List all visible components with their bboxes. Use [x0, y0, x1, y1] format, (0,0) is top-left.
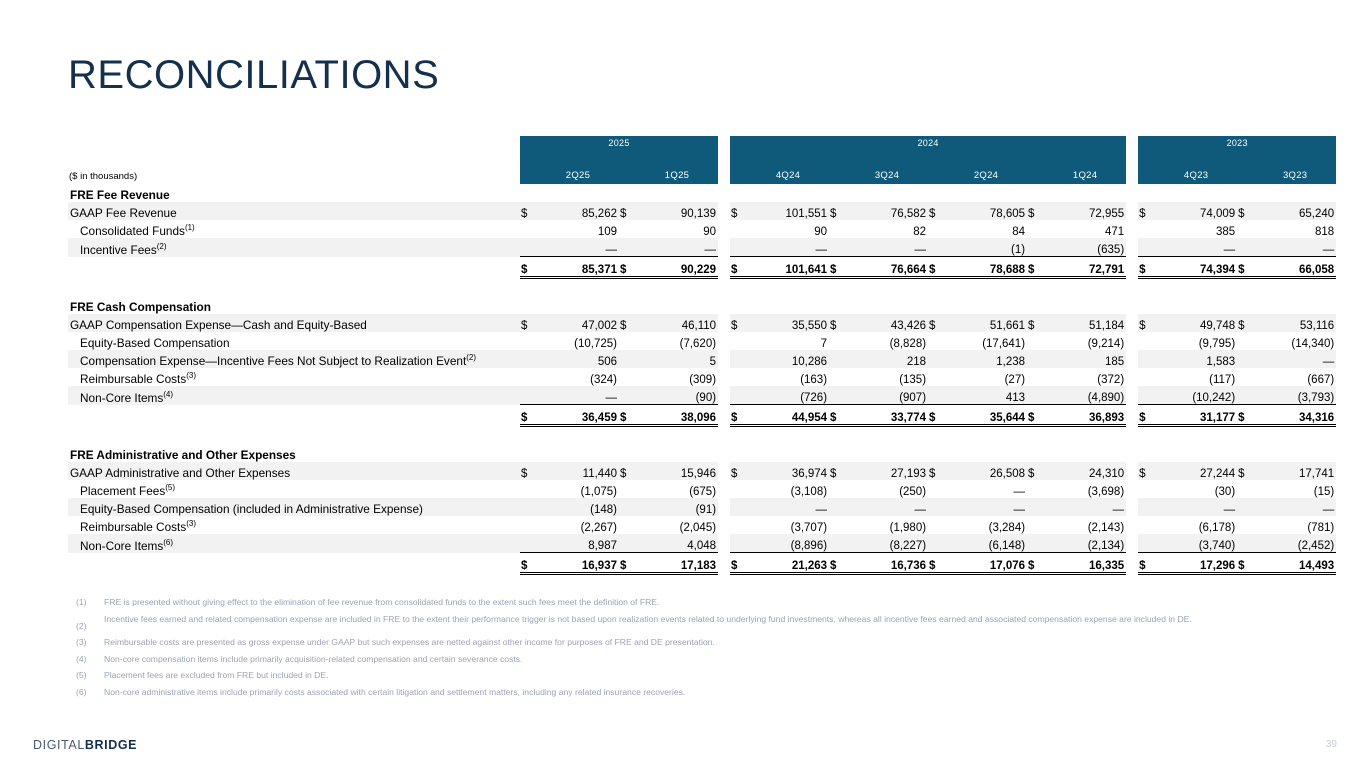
- section-total-row: $16,937$17,183$21,263$16,736$17,076$16,3…: [68, 553, 1336, 574]
- row-label: GAAP Fee Revenue: [68, 202, 520, 220]
- cell-value-3Q23: 14,493: [1254, 553, 1336, 574]
- row-label: Placement Fees(5): [68, 480, 520, 498]
- cell-value-3Q24: (135): [846, 368, 928, 386]
- year-group-gap: [1126, 136, 1138, 151]
- year-group-gap: [718, 498, 730, 516]
- currency-symbol: [928, 368, 945, 386]
- cell-value-4Q23: (117): [1155, 368, 1237, 386]
- footnote-number: (2): [70, 614, 104, 632]
- cell-value-3Q24: (1,980): [846, 516, 928, 534]
- cell-value-4Q23: (9,795): [1155, 332, 1237, 350]
- cell-value-3Q23: (667): [1254, 368, 1336, 386]
- year-group-gap: [718, 480, 730, 498]
- currency-symbol: $: [730, 257, 747, 278]
- quarter-currency-pad: [1138, 151, 1155, 184]
- currency-symbol: [829, 498, 846, 516]
- table-row: Non-Core Items(4)—(90)(726)(907)413(4,89…: [68, 386, 1336, 405]
- currency-symbol: $: [1138, 314, 1155, 332]
- currency-symbol: [1138, 480, 1155, 498]
- year-header-row: 202520242023: [68, 136, 1336, 151]
- currency-symbol: [520, 238, 537, 257]
- currency-symbol: [1027, 516, 1044, 534]
- year-label-2023: 2023: [1138, 136, 1336, 151]
- quarter-currency-pad: [829, 151, 846, 184]
- year-group-gap: [1126, 238, 1138, 257]
- currency-symbol: $: [928, 462, 945, 480]
- currency-symbol: [1237, 368, 1254, 386]
- currency-symbol: [730, 332, 747, 350]
- cell-value-2Q24: 84: [945, 220, 1027, 238]
- cell-value-4Q23: 49,748: [1155, 314, 1237, 332]
- currency-symbol: $: [928, 202, 945, 220]
- quarter-currency-pad: [1237, 151, 1254, 184]
- cell-value-3Q23: (781): [1254, 516, 1336, 534]
- section-heading-row: FRE Fee Revenue: [68, 184, 1336, 202]
- total-label: [68, 405, 520, 426]
- footnote-number: (6): [70, 687, 104, 698]
- cell-value-1Q25: 46,110: [636, 314, 718, 332]
- currency-symbol: $: [1138, 405, 1155, 426]
- currency-symbol: $: [730, 462, 747, 480]
- year-group-gap: [1126, 480, 1138, 498]
- currency-symbol: [1237, 386, 1254, 405]
- currency-symbol: $: [829, 553, 846, 574]
- header-label-spacer: [68, 136, 520, 151]
- cell-value-1Q25: 90,229: [636, 257, 718, 278]
- currency-symbol: [1138, 332, 1155, 350]
- cell-value-2Q25: 11,440: [537, 462, 619, 480]
- row-label: Non-Core Items(6): [68, 534, 520, 553]
- cell-value-1Q25: 15,946: [636, 462, 718, 480]
- currency-symbol: $: [520, 257, 537, 278]
- currency-symbol: [829, 220, 846, 238]
- currency-symbol: $: [829, 202, 846, 220]
- year-group-gap: [1126, 405, 1138, 426]
- table-row: GAAP Fee Revenue$85,262$90,139$101,551$7…: [68, 202, 1336, 220]
- year-group-gap: [718, 257, 730, 278]
- currency-symbol: [730, 516, 747, 534]
- footnote-text: Reimbursable costs are presented as gros…: [104, 637, 1320, 648]
- currency-symbol: [520, 350, 537, 368]
- logo-light-text: DIGITAL: [33, 738, 85, 752]
- row-label: Reimbursable Costs(3): [68, 368, 520, 386]
- footnote-text: FRE is presented without giving effect t…: [104, 597, 1320, 608]
- cell-value-4Q23: 385: [1155, 220, 1237, 238]
- currency-symbol: [928, 386, 945, 405]
- footnote-text: Placement fees are excluded from FRE but…: [104, 670, 1320, 681]
- cell-value-2Q24: 78,605: [945, 202, 1027, 220]
- year-group-gap: [1126, 553, 1138, 574]
- currency-symbol: [1138, 498, 1155, 516]
- currency-symbol: [1138, 368, 1155, 386]
- currency-symbol: [619, 516, 636, 534]
- cell-value-4Q24: —: [747, 238, 829, 257]
- currency-symbol: $: [520, 462, 537, 480]
- cell-value-4Q24: 7: [747, 332, 829, 350]
- cell-value-2Q25: (1,075): [537, 480, 619, 498]
- currency-symbol: [1027, 534, 1044, 553]
- currency-symbol: $: [520, 405, 537, 426]
- year-group-gap: [718, 462, 730, 480]
- cell-value-1Q24: 16,335: [1044, 553, 1126, 574]
- currency-symbol: [730, 386, 747, 405]
- year-group-gap: [718, 553, 730, 574]
- cell-value-2Q25: 16,937: [537, 553, 619, 574]
- currency-symbol: [1138, 516, 1155, 534]
- currency-symbol: [829, 516, 846, 534]
- currency-symbol: [1237, 238, 1254, 257]
- currency-symbol: [619, 498, 636, 516]
- year-label-2025: 2025: [520, 136, 718, 151]
- cell-value-1Q24: (4,890): [1044, 386, 1126, 405]
- cell-value-4Q23: 1,583: [1155, 350, 1237, 368]
- quarter-label-1Q25: 1Q25: [636, 151, 718, 184]
- currency-symbol: [928, 238, 945, 257]
- currency-symbol: [520, 332, 537, 350]
- cell-value-2Q25: —: [537, 386, 619, 405]
- currency-symbol: $: [829, 405, 846, 426]
- currency-symbol: [619, 386, 636, 405]
- currency-symbol: $: [1138, 202, 1155, 220]
- currency-symbol: [619, 350, 636, 368]
- table-row: Non-Core Items(6)8,9874,048(8,896)(8,227…: [68, 534, 1336, 553]
- currency-symbol: [1237, 350, 1254, 368]
- currency-symbol: [1138, 386, 1155, 405]
- year-group-gap: [1126, 257, 1138, 278]
- cell-value-2Q25: 109: [537, 220, 619, 238]
- cell-value-4Q24: (8,896): [747, 534, 829, 553]
- reconciliation-table-wrapper: 202520242023($ in thousands)2Q251Q254Q24…: [68, 136, 1318, 575]
- cell-value-2Q24: (1): [945, 238, 1027, 257]
- currency-symbol: [1237, 516, 1254, 534]
- currency-symbol: $: [619, 257, 636, 278]
- row-label: Consolidated Funds(1): [68, 220, 520, 238]
- cell-value-1Q25: 38,096: [636, 405, 718, 426]
- cell-value-3Q23: (15): [1254, 480, 1336, 498]
- currency-symbol: [520, 498, 537, 516]
- currency-symbol: [1027, 368, 1044, 386]
- quarter-label-2Q25: 2Q25: [537, 151, 619, 184]
- cell-value-3Q24: 33,774: [846, 405, 928, 426]
- currency-symbol: [829, 534, 846, 553]
- currency-symbol: $: [1138, 257, 1155, 278]
- cell-value-1Q24: —: [1044, 498, 1126, 516]
- currency-symbol: [1027, 480, 1044, 498]
- table-row: Reimbursable Costs(3)(2,267)(2,045)(3,70…: [68, 516, 1336, 534]
- currency-symbol: [1027, 332, 1044, 350]
- currency-symbol: [928, 498, 945, 516]
- cell-value-2Q24: (6,148): [945, 534, 1027, 553]
- cell-value-2Q25: 85,262: [537, 202, 619, 220]
- currency-symbol: [928, 516, 945, 534]
- cell-value-3Q24: —: [846, 498, 928, 516]
- footnote-item: (1)FRE is presented without giving effec…: [70, 597, 1320, 608]
- currency-symbol: $: [1027, 314, 1044, 332]
- currency-symbol: [1138, 534, 1155, 553]
- quarter-label-4Q23: 4Q23: [1155, 151, 1237, 184]
- cell-value-4Q24: 44,954: [747, 405, 829, 426]
- section-heading: FRE Administrative and Other Expenses: [68, 444, 520, 462]
- cell-value-1Q25: 90,139: [636, 202, 718, 220]
- quarter-label-2Q24: 2Q24: [945, 151, 1027, 184]
- currency-symbol: $: [928, 314, 945, 332]
- cell-value-1Q25: (675): [636, 480, 718, 498]
- cell-value-4Q23: 31,177: [1155, 405, 1237, 426]
- cell-value-4Q23: (30): [1155, 480, 1237, 498]
- currency-symbol: $: [928, 405, 945, 426]
- currency-symbol: [928, 480, 945, 498]
- cell-value-1Q24: 185: [1044, 350, 1126, 368]
- currency-symbol: $: [619, 405, 636, 426]
- cell-value-2Q24: (27): [945, 368, 1027, 386]
- cell-value-2Q24: 35,644: [945, 405, 1027, 426]
- currency-symbol: $: [1138, 553, 1155, 574]
- cell-value-1Q24: 36,893: [1044, 405, 1126, 426]
- cell-value-3Q24: (8,227): [846, 534, 928, 553]
- cell-value-3Q23: (2,452): [1254, 534, 1336, 553]
- currency-symbol: [928, 220, 945, 238]
- currency-symbol: $: [1237, 257, 1254, 278]
- logo-bold-text: BRIDGE: [85, 738, 137, 752]
- year-group-gap: [1126, 534, 1138, 553]
- cell-value-4Q24: 101,641: [747, 257, 829, 278]
- footnote-text: Incentive fees earned and related compen…: [104, 614, 1320, 625]
- year-group-gap: [718, 368, 730, 386]
- year-group-gap: [718, 238, 730, 257]
- currency-symbol: $: [520, 202, 537, 220]
- cell-value-2Q25: 36,459: [537, 405, 619, 426]
- row-label: Equity-Based Compensation: [68, 332, 520, 350]
- cell-value-1Q25: (90): [636, 386, 718, 405]
- currency-symbol: [730, 480, 747, 498]
- cell-value-1Q24: (635): [1044, 238, 1126, 257]
- cell-value-2Q24: 51,661: [945, 314, 1027, 332]
- quarter-currency-pad: [1027, 151, 1044, 184]
- year-group-gap: [718, 405, 730, 426]
- currency-symbol: $: [1027, 553, 1044, 574]
- currency-symbol: [520, 368, 537, 386]
- currency-symbol: [1027, 220, 1044, 238]
- table-row: Incentive Fees(2)————(1)(635)——: [68, 238, 1336, 257]
- currency-symbol: $: [730, 553, 747, 574]
- currency-symbol: [928, 350, 945, 368]
- cell-value-3Q23: 17,741: [1254, 462, 1336, 480]
- cell-value-3Q23: (14,340): [1254, 332, 1336, 350]
- cell-value-2Q25: 8,987: [537, 534, 619, 553]
- footnote-number: (3): [70, 637, 104, 648]
- currency-symbol: [1027, 498, 1044, 516]
- cell-value-3Q24: 218: [846, 350, 928, 368]
- currency-symbol: $: [619, 202, 636, 220]
- currency-symbol: [928, 534, 945, 553]
- cell-value-3Q23: —: [1254, 350, 1336, 368]
- cell-value-4Q24: 10,286: [747, 350, 829, 368]
- cell-value-1Q24: (2,134): [1044, 534, 1126, 553]
- year-group-gap: [718, 516, 730, 534]
- year-group-gap: [718, 386, 730, 405]
- currency-symbol: $: [1237, 202, 1254, 220]
- cell-value-1Q25: (309): [636, 368, 718, 386]
- year-group-gap: [1126, 350, 1138, 368]
- currency-symbol: [619, 368, 636, 386]
- quarter-currency-pad: [520, 151, 537, 184]
- currency-symbol: [520, 220, 537, 238]
- row-label: Equity-Based Compensation (included in A…: [68, 498, 520, 516]
- year-group-gap: [1126, 332, 1138, 350]
- currency-symbol: [730, 220, 747, 238]
- currency-symbol: $: [619, 553, 636, 574]
- quarter-currency-pad: [928, 151, 945, 184]
- currency-symbol: $: [928, 553, 945, 574]
- cell-value-3Q24: 82: [846, 220, 928, 238]
- year-group-gap: [718, 534, 730, 553]
- cell-value-4Q24: 36,974: [747, 462, 829, 480]
- footnote-text: Non-core administrative items include pr…: [104, 687, 1320, 698]
- section-total-row: $36,459$38,096$44,954$33,774$35,644$36,8…: [68, 405, 1336, 426]
- cell-value-2Q24: 17,076: [945, 553, 1027, 574]
- cell-value-2Q24: (17,641): [945, 332, 1027, 350]
- total-label: [68, 553, 520, 574]
- quarter-currency-pad: [730, 151, 747, 184]
- cell-value-4Q23: —: [1155, 238, 1237, 257]
- cell-value-4Q23: 27,244: [1155, 462, 1237, 480]
- currency-symbol: [1027, 238, 1044, 257]
- cell-value-3Q24: 16,736: [846, 553, 928, 574]
- cell-value-4Q24: 35,550: [747, 314, 829, 332]
- currency-symbol: [520, 386, 537, 405]
- currency-symbol: [1237, 480, 1254, 498]
- row-label: GAAP Compensation Expense—Cash and Equit…: [68, 314, 520, 332]
- page-title: RECONCILIATIONS: [68, 55, 439, 95]
- cell-value-1Q25: (2,045): [636, 516, 718, 534]
- cell-value-4Q24: 101,551: [747, 202, 829, 220]
- cell-value-4Q24: (3,108): [747, 480, 829, 498]
- row-label: Compensation Expense—Incentive Fees Not …: [68, 350, 520, 368]
- row-label: Incentive Fees(2): [68, 238, 520, 257]
- currency-symbol: $: [520, 314, 537, 332]
- footnote-number: (4): [70, 654, 104, 665]
- currency-symbol: [829, 350, 846, 368]
- currency-symbol: [1237, 498, 1254, 516]
- currency-symbol: [829, 238, 846, 257]
- row-label: Non-Core Items(4): [68, 386, 520, 405]
- cell-value-3Q23: 66,058: [1254, 257, 1336, 278]
- year-group-gap: [1126, 220, 1138, 238]
- reconciliation-table: 202520242023($ in thousands)2Q251Q254Q24…: [68, 136, 1336, 575]
- currency-symbol: [829, 386, 846, 405]
- cell-value-3Q24: —: [846, 238, 928, 257]
- cell-value-2Q25: (10,725): [537, 332, 619, 350]
- spacer-row: [68, 426, 1336, 445]
- year-group-gap: [1126, 516, 1138, 534]
- currency-symbol: $: [829, 257, 846, 278]
- currency-symbol: $: [829, 462, 846, 480]
- currency-symbol: [1237, 220, 1254, 238]
- quarter-label-1Q24: 1Q24: [1044, 151, 1126, 184]
- footnote-number: (5): [70, 670, 104, 681]
- cell-value-1Q25: (7,620): [636, 332, 718, 350]
- cell-value-3Q24: (8,828): [846, 332, 928, 350]
- section-heading-row: FRE Cash Compensation: [68, 296, 1336, 314]
- year-group-gap: [1126, 462, 1138, 480]
- year-group-gap: [1126, 314, 1138, 332]
- currency-symbol: [619, 534, 636, 553]
- cell-value-1Q25: —: [636, 238, 718, 257]
- currency-symbol: $: [1237, 462, 1254, 480]
- table-row: GAAP Compensation Expense—Cash and Equit…: [68, 314, 1336, 332]
- cell-value-1Q24: 72,955: [1044, 202, 1126, 220]
- footnote-text: Non-core compensation items include prim…: [104, 654, 1320, 665]
- cell-value-3Q23: 34,316: [1254, 405, 1336, 426]
- currency-symbol: $: [619, 462, 636, 480]
- currency-symbol: [619, 220, 636, 238]
- units-note: ($ in thousands): [68, 151, 520, 184]
- row-label: Reimbursable Costs(3): [68, 516, 520, 534]
- currency-symbol: [1027, 386, 1044, 405]
- cell-value-2Q24: 1,238: [945, 350, 1027, 368]
- currency-symbol: $: [1027, 202, 1044, 220]
- cell-value-4Q23: 74,394: [1155, 257, 1237, 278]
- cell-value-3Q23: —: [1254, 498, 1336, 516]
- footnote-item: (4)Non-core compensation items include p…: [70, 654, 1320, 665]
- cell-value-1Q25: (91): [636, 498, 718, 516]
- currency-symbol: $: [730, 405, 747, 426]
- currency-symbol: $: [1237, 553, 1254, 574]
- slide-canvas: RECONCILIATIONS 202520242023($ in thousa…: [0, 0, 1365, 768]
- currency-symbol: [730, 368, 747, 386]
- cell-value-4Q24: 90: [747, 220, 829, 238]
- table-row: Equity-Based Compensation(10,725)(7,620)…: [68, 332, 1336, 350]
- cell-value-3Q24: 43,426: [846, 314, 928, 332]
- quarter-currency-pad: [619, 151, 636, 184]
- cell-value-2Q24: —: [945, 480, 1027, 498]
- cell-value-3Q23: 818: [1254, 220, 1336, 238]
- footnote-item: (5)Placement fees are excluded from FRE …: [70, 670, 1320, 681]
- total-label: [68, 257, 520, 278]
- cell-value-2Q25: (148): [537, 498, 619, 516]
- currency-symbol: $: [1027, 257, 1044, 278]
- cell-value-3Q24: 27,193: [846, 462, 928, 480]
- year-group-gap: [718, 151, 730, 184]
- cell-value-2Q24: (3,284): [945, 516, 1027, 534]
- table-row: Reimbursable Costs(3)(324)(309)(163)(135…: [68, 368, 1336, 386]
- year-group-gap: [1126, 386, 1138, 405]
- currency-symbol: $: [1138, 462, 1155, 480]
- currency-symbol: [619, 332, 636, 350]
- currency-symbol: $: [1027, 462, 1044, 480]
- cell-value-1Q24: (3,698): [1044, 480, 1126, 498]
- cell-value-1Q24: 471: [1044, 220, 1126, 238]
- cell-value-4Q24: (726): [747, 386, 829, 405]
- currency-symbol: $: [619, 314, 636, 332]
- currency-symbol: [1237, 534, 1254, 553]
- cell-value-1Q24: (2,143): [1044, 516, 1126, 534]
- row-label: GAAP Administrative and Other Expenses: [68, 462, 520, 480]
- currency-symbol: [829, 480, 846, 498]
- currency-symbol: [1138, 350, 1155, 368]
- currency-symbol: [1237, 332, 1254, 350]
- cell-value-2Q24: 26,508: [945, 462, 1027, 480]
- year-group-gap: [718, 332, 730, 350]
- currency-symbol: [619, 480, 636, 498]
- cell-value-3Q24: (250): [846, 480, 928, 498]
- currency-symbol: [730, 350, 747, 368]
- cell-value-4Q24: —: [747, 498, 829, 516]
- section-heading: FRE Cash Compensation: [68, 296, 520, 314]
- table-row: Consolidated Funds(1)1099090828447138581…: [68, 220, 1336, 238]
- spacer-row: [68, 278, 1336, 297]
- currency-symbol: $: [829, 314, 846, 332]
